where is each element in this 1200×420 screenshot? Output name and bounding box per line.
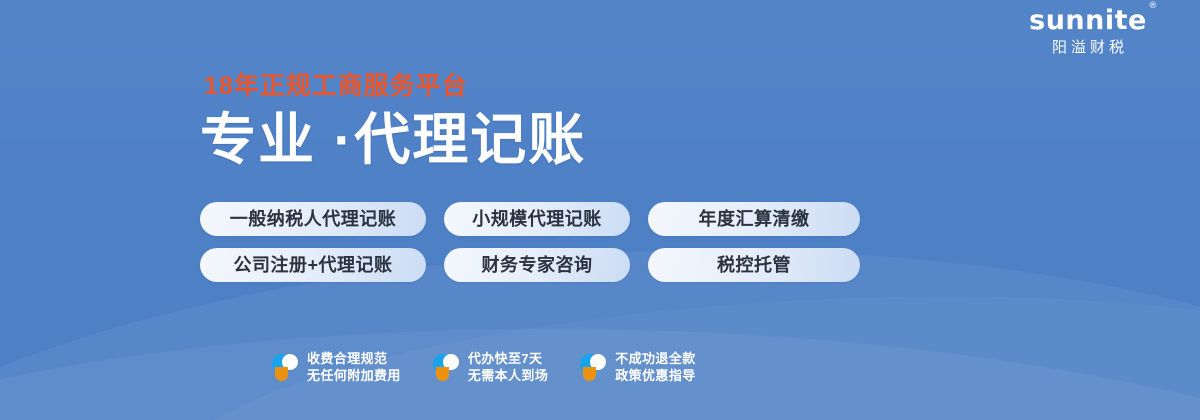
feature-text-pricing: 收费合理规范 无任何附加费用 [307,350,401,384]
service-pill-row-2: 公司注册+代理记账 财务专家咨询 税控托管 [200,248,860,282]
feature-line-2: 无任何附加费用 [307,367,401,384]
circle-badge-orange-part [436,367,449,381]
service-pill-company-registration[interactable]: 公司注册+代理记账 [200,248,426,282]
page-title: 专业 ·代理记账 [200,108,586,172]
logo-wordmark-text: sunnite [1029,5,1147,36]
headline-block: 18年正规工商服务平台 专业 ·代理记账 [200,72,586,172]
feature-line-1: 代办快至7天 [468,350,548,367]
feature-line-2: 政策优惠指导 [615,367,695,384]
circle-badge-orange-part [583,367,596,381]
promo-banner: sunnite ® 阳溢财税 18年正规工商服务平台 专业 ·代理记账 一般纳税… [0,0,1200,420]
logo-wordmark: sunnite ® [1029,6,1147,36]
feature-item-pricing: 收费合理规范 无任何附加费用 [272,350,401,384]
feature-line-2: 无需本人到场 [468,367,548,384]
service-pill-finance-consulting[interactable]: 财务专家咨询 [444,248,630,282]
service-pill-tax-control-custody[interactable]: 税控托管 [648,248,860,282]
service-pill-annual-settlement[interactable]: 年度汇算清缴 [648,202,860,236]
eyebrow-text: 18年正规工商服务平台 [204,72,586,100]
feature-text-guarantee: 不成功退全款 政策优惠指导 [615,350,695,384]
logo-chinese-name: 阳溢财税 [998,39,1178,57]
feature-item-speed: 代办快至7天 无需本人到场 [433,350,548,384]
circle-badge-icon [433,351,459,383]
circle-badge-orange-part [275,367,288,381]
feature-item-guarantee: 不成功退全款 政策优惠指导 [580,350,695,384]
feature-text-speed: 代办快至7天 无需本人到场 [468,350,548,384]
feature-line-1: 不成功退全款 [615,350,695,367]
circle-badge-icon [580,351,606,383]
feature-line-1: 收费合理规范 [307,350,401,367]
service-pill-row-1: 一般纳税人代理记账 小规模代理记账 年度汇算清缴 [200,202,860,236]
service-pill-small-scale[interactable]: 小规模代理记账 [444,202,630,236]
registered-trademark-icon: ® [1148,2,1158,11]
circle-badge-icon [272,351,298,383]
service-pill-grid: 一般纳税人代理记账 小规模代理记账 年度汇算清缴 公司注册+代理记账 财务专家咨… [200,202,860,294]
brand-logo[interactable]: sunnite ® 阳溢财税 [998,6,1178,57]
feature-list: 收费合理规范 无任何附加费用 代办快至7天 无需本人到场 不成功退全款 [272,350,696,384]
service-pill-general-taxpayer[interactable]: 一般纳税人代理记账 [200,202,426,236]
